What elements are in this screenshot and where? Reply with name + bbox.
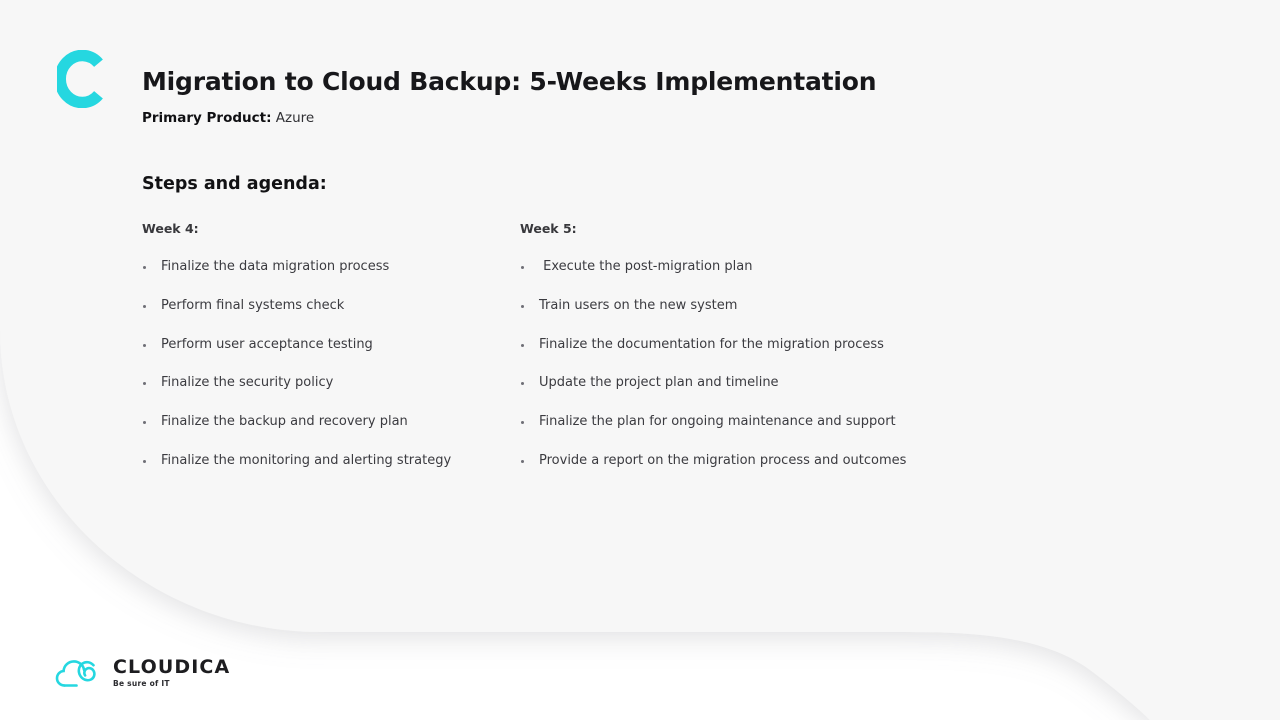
- list-item: Provide a report on the migration proces…: [520, 453, 898, 469]
- list-item: Finalize the plan for ongoing maintenanc…: [520, 414, 898, 430]
- agenda-columns: Week 4: Finalize the data migration proc…: [142, 221, 1202, 492]
- list-item: Perform final systems check: [142, 298, 520, 314]
- list-item: Finalize the monitoring and alerting str…: [142, 453, 520, 469]
- column-title-week5: Week 5:: [520, 221, 898, 236]
- agenda-column-week5: Week 5: Execute the post-migration plan …: [520, 221, 898, 492]
- section-heading: Steps and agenda:: [142, 174, 327, 194]
- list-item: Finalize the security policy: [142, 375, 520, 391]
- primary-product-label: Primary Product:: [142, 110, 271, 126]
- bullet-list-week4: Finalize the data migration process Perf…: [142, 259, 520, 469]
- brand-tagline: Be sure of IT: [113, 680, 230, 688]
- cloudica-c-icon: [57, 50, 103, 108]
- list-item: Update the project plan and timeline: [520, 375, 898, 391]
- primary-product-line: Primary Product: Azure: [142, 110, 314, 126]
- list-item: Train users on the new system: [520, 298, 898, 314]
- slide-canvas: Migration to Cloud Backup: 5-Weeks Imple…: [0, 0, 1280, 720]
- list-item: Finalize the documentation for the migra…: [520, 337, 898, 353]
- brand-wordmark: CLOUDICA: [113, 658, 230, 677]
- primary-product-value: Azure: [276, 110, 314, 126]
- list-item: Perform user acceptance testing: [142, 337, 520, 353]
- agenda-column-week4: Week 4: Finalize the data migration proc…: [142, 221, 520, 492]
- list-item: Finalize the data migration process: [142, 259, 520, 275]
- bullet-list-week5: Execute the post-migration plan Train us…: [520, 259, 898, 469]
- cloudica-cloud-icon: [55, 655, 103, 691]
- footer-logo-text: CLOUDICA Be sure of IT: [113, 658, 230, 688]
- list-item: Execute the post-migration plan: [520, 259, 898, 275]
- footer-logo: CLOUDICA Be sure of IT: [55, 655, 230, 691]
- page-title: Migration to Cloud Backup: 5-Weeks Imple…: [142, 67, 876, 96]
- column-title-week4: Week 4:: [142, 221, 520, 236]
- list-item: Finalize the backup and recovery plan: [142, 414, 520, 430]
